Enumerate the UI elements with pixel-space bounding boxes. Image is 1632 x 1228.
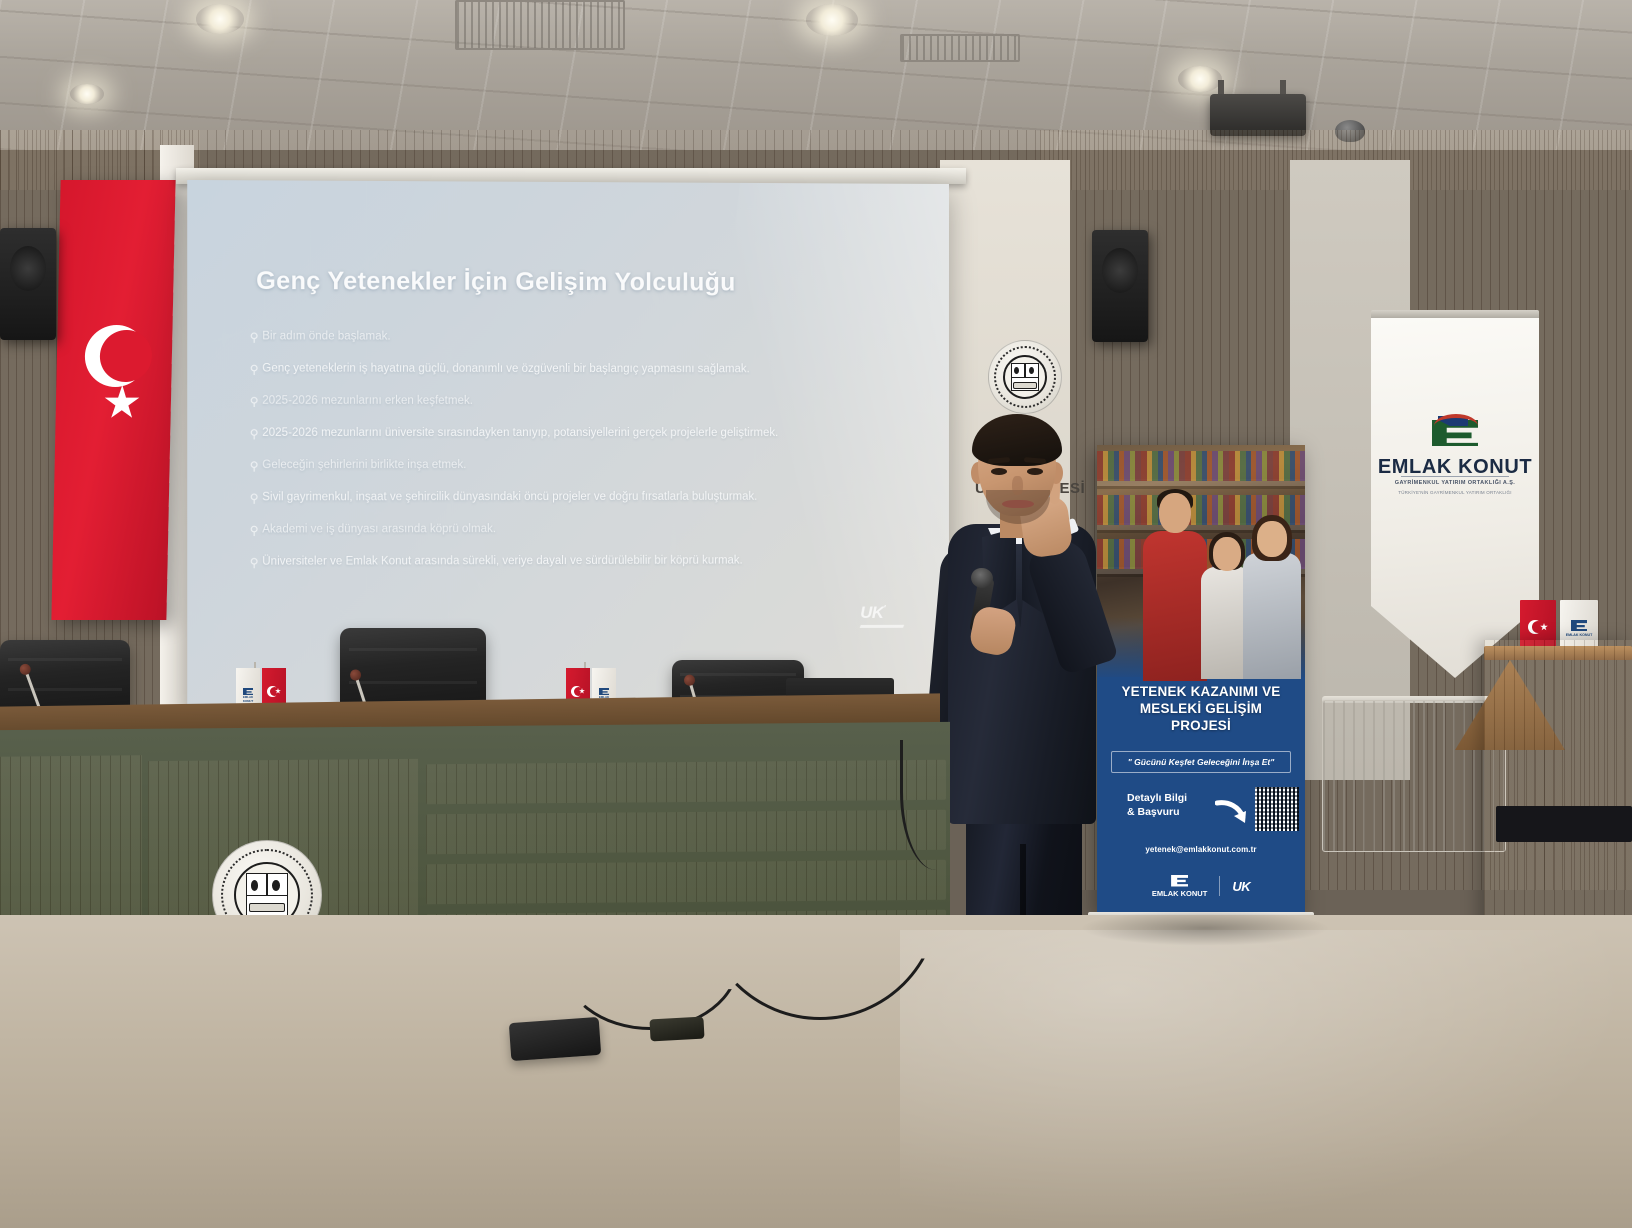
rollup-title-line-2: MESLEKİ GELİŞİM bbox=[1105, 700, 1297, 717]
bullet-marker-icon: ⚲ bbox=[246, 555, 262, 571]
floor-light-reflection bbox=[900, 930, 1630, 1228]
presenter-nose bbox=[1012, 476, 1023, 495]
bookshelf-books bbox=[1097, 451, 1305, 481]
presentation-photo-scene: Genç Yetenekler İçin Gelişim Yolculuğu ⚲… bbox=[0, 0, 1632, 1228]
emlak-konut-flag-logo: EMLAK KONUT bbox=[595, 688, 613, 697]
emlak-roof-mark bbox=[1434, 414, 1478, 426]
bullet-text: 2025-2026 mezunlarını erken keşfetmek. bbox=[262, 394, 473, 409]
bullet-text: Sivil gayrimenkul, inşaat ve şehircilik … bbox=[262, 490, 757, 506]
bullet-marker-icon: ⚲ bbox=[246, 522, 262, 538]
presenter-eye-left bbox=[991, 468, 1007, 475]
bullet-marker-icon: ⚲ bbox=[246, 458, 262, 474]
rollup-cta-line-2: & Başvuru bbox=[1127, 805, 1187, 819]
emlak-konut-flag-logo: EMLAK KONUT bbox=[239, 688, 257, 697]
bullet-text: 2025-2026 mezunlarını üniversite sırasın… bbox=[262, 426, 778, 441]
floor-equipment-box bbox=[509, 1017, 601, 1061]
curved-arrow-icon bbox=[1215, 797, 1249, 827]
panel-desk-slat bbox=[426, 810, 946, 855]
seal-horse-icon bbox=[1029, 367, 1034, 374]
university-seal-wall bbox=[988, 340, 1062, 414]
rollup-email: yetenek@emlakkonut.com.tr bbox=[1097, 845, 1305, 854]
bullet-marker-icon: ⚲ bbox=[246, 361, 262, 377]
panel-desk-slat bbox=[426, 760, 946, 805]
bullet-marker-icon: ⚲ bbox=[246, 490, 262, 506]
presenter-hair bbox=[972, 414, 1062, 466]
emlak-konut-banner-subtitle: GAYRİMENKUL YATIRIM ORTAKLIĞI A.Ş. bbox=[1371, 480, 1539, 486]
panel-desk-slat bbox=[426, 860, 946, 905]
rollup-banner-title: YETENEK KAZANIMI VE MESLEKİ GELİŞİM PROJ… bbox=[1105, 683, 1297, 734]
seal-book-icon bbox=[249, 903, 286, 913]
rollup-banner-photo bbox=[1097, 445, 1305, 677]
lectern-recess bbox=[1496, 806, 1632, 842]
bullet-text: Üniversiteler ve Emlak Konut arasında sü… bbox=[262, 554, 742, 570]
ceiling-air-vent bbox=[455, 0, 625, 50]
projection-screen: Genç Yetenekler İçin Gelişim Yolculuğu ⚲… bbox=[187, 180, 949, 714]
ceiling-light-3 bbox=[1178, 66, 1222, 92]
seal-book-icon bbox=[1013, 382, 1037, 388]
emlak-konut-mark-icon bbox=[243, 688, 253, 695]
emlak-konut-house-icon bbox=[1432, 414, 1478, 446]
ceiling-light-4 bbox=[70, 84, 104, 104]
crescent-icon bbox=[84, 325, 147, 387]
crescent-icon bbox=[571, 686, 582, 697]
slide-title: Genç Yetenekler İçin Gelişim Yolculuğu bbox=[256, 267, 735, 298]
bullet-marker-icon: ⚲ bbox=[246, 394, 262, 410]
qr-code-icon[interactable] bbox=[1255, 787, 1299, 831]
banner-student-3-body bbox=[1243, 553, 1301, 679]
bullet-text: Genç yeteneklerin iş hayatına güçlü, don… bbox=[262, 361, 750, 377]
logo-divider bbox=[1219, 876, 1220, 896]
emlak-konut-flag-text: EMLAK KONUT bbox=[239, 695, 257, 703]
ceiling-air-vent-2 bbox=[900, 34, 1020, 62]
emlak-konut-mark-icon bbox=[1571, 620, 1587, 631]
seal-tree-icon bbox=[251, 880, 259, 891]
turkish-flag-wall bbox=[51, 180, 175, 620]
emlak-konut-banner: EMLAK KONUT GAYRİMENKUL YATIRIM ORTAKLIĞ… bbox=[1371, 318, 1539, 678]
presenter-eye-right bbox=[1027, 468, 1043, 475]
rollup-logo-row: EMLAK KONUT UK bbox=[1097, 869, 1305, 903]
emlak-konut-mark-icon bbox=[599, 688, 609, 695]
banner-student-1-head bbox=[1159, 493, 1191, 533]
uk-logo-small: UK bbox=[1232, 879, 1250, 894]
emlak-konut-logo-text: EMLAK KONUT bbox=[1152, 889, 1207, 898]
bullet-marker-icon: ⚲ bbox=[246, 426, 262, 442]
rollup-shadow bbox=[1080, 910, 1330, 946]
crescent-icon bbox=[1528, 620, 1542, 634]
banner-student-3 bbox=[1243, 521, 1301, 677]
emlak-konut-flag-text: EMLAK KONUT bbox=[1560, 633, 1598, 637]
rollup-title-line-1: YETENEK KAZANIMI VE bbox=[1105, 683, 1297, 700]
crescent-icon bbox=[267, 686, 278, 697]
emlak-konut-mark-icon bbox=[1171, 875, 1188, 887]
wall-speaker-right bbox=[1092, 230, 1148, 342]
banner-student-3-head bbox=[1257, 521, 1287, 557]
bullet-marker-icon: ⚲ bbox=[246, 329, 262, 345]
presenter-mouth bbox=[1002, 500, 1034, 508]
floor-equipment-small bbox=[649, 1017, 704, 1042]
star-icon bbox=[104, 385, 141, 421]
rollup-slogan: " Gücünü Keşfet Geleceğini İnşa Et" bbox=[1128, 757, 1274, 767]
ceiling-light-2 bbox=[806, 4, 858, 36]
emlak-konut-banner-subtitle-2: TÜRKİYE'NİN GAYRİMENKUL YATIRIM ORTAKLIĞ… bbox=[1371, 490, 1539, 495]
rollup-cta: Detaylı Bilgi & Başvuru bbox=[1127, 791, 1187, 819]
rollup-title-line-3: PROJESİ bbox=[1105, 717, 1297, 734]
rollup-slogan-box: " Gücünü Keşfet Geleceğini İnşa Et" bbox=[1111, 751, 1291, 773]
bullet-text: Geleceğin şehirlerini birlikte inşa etme… bbox=[262, 458, 466, 473]
bullet-text: Akademi ve iş dünyası arasında köprü olm… bbox=[262, 522, 496, 537]
seal-horse-icon bbox=[272, 880, 280, 891]
banner-student-1-body bbox=[1143, 531, 1207, 681]
emlak-konut-logo-small: EMLAK KONUT bbox=[1152, 875, 1207, 898]
emlak-konut-logo bbox=[1371, 414, 1539, 446]
bullet-text: Bir adım önde başlamak. bbox=[262, 329, 390, 344]
wall-speaker-left bbox=[0, 228, 56, 340]
emlak-banner-divider bbox=[1401, 476, 1509, 477]
ceiling-light-1 bbox=[196, 4, 244, 34]
banner-student-1 bbox=[1141, 493, 1207, 677]
rollup-banner: YETENEK KAZANIMI VE MESLEKİ GELİŞİM PROJ… bbox=[1097, 445, 1305, 915]
banner-student-2-head bbox=[1213, 537, 1241, 571]
rollup-cta-line-1: Detaylı Bilgi bbox=[1127, 791, 1187, 805]
